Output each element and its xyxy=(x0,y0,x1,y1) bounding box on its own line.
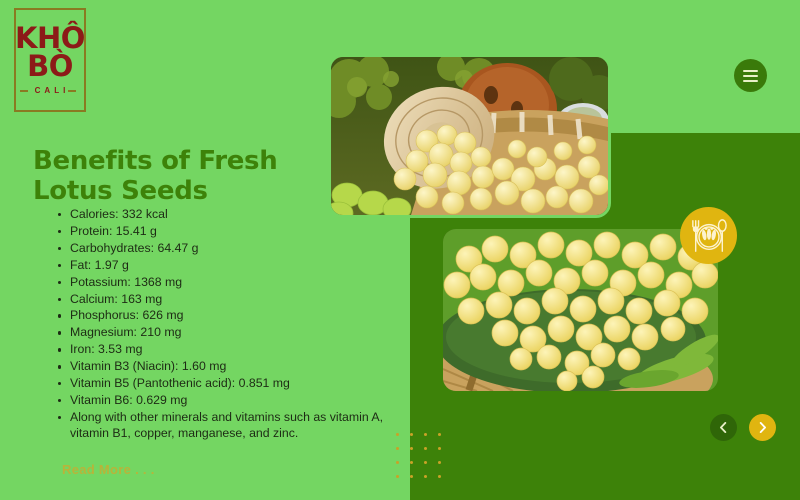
decor-dot xyxy=(396,461,399,464)
decor-dot xyxy=(396,447,399,450)
carousel-prev-button[interactable] xyxy=(710,414,737,441)
nutrition-facts-list: Calories: 332 kcal Protein: 15.41 g Carb… xyxy=(52,206,390,442)
list-item: Vitamin B3 (Niacin): 1.60 mg xyxy=(70,358,390,374)
decor-dot xyxy=(410,475,413,478)
logo-line-1: KHÔ xyxy=(15,25,85,52)
lotus-seed-leaf-photo xyxy=(441,227,720,393)
decor-dot xyxy=(424,447,427,450)
lotus-seed-basket-photo xyxy=(328,54,611,218)
decor-dot xyxy=(424,475,427,478)
hamburger-line-icon xyxy=(743,75,758,77)
dot-grid-decoration xyxy=(391,428,447,484)
fork-plate-spoon-icon xyxy=(690,217,728,255)
list-item: Vitamin B5 (Pantothenic acid): 0.851 mg xyxy=(70,375,390,391)
hamburger-line-icon xyxy=(743,80,758,82)
carousel-controls xyxy=(710,414,776,441)
logo-subtitle: CALI xyxy=(31,86,70,95)
lotus-seed-leaf-illustration xyxy=(443,229,718,391)
list-item: Carbohydrates: 64.47 g xyxy=(70,240,390,256)
list-item: Vitamin B6: 0.629 mg xyxy=(70,392,390,408)
decor-dot xyxy=(396,433,399,436)
logo-line-2: BÒ xyxy=(27,53,73,80)
decor-dot xyxy=(438,461,441,464)
food-badge xyxy=(680,207,737,264)
list-item: Along with other minerals and vitamins s… xyxy=(70,409,390,442)
read-more-link[interactable]: Read More . . . xyxy=(62,462,155,477)
decor-dot xyxy=(438,433,441,436)
list-item: Potassium: 1368 mg xyxy=(70,274,390,290)
hamburger-menu-button[interactable] xyxy=(734,59,767,92)
decor-dot xyxy=(438,475,441,478)
page-title: Benefits of Fresh Lotus Seeds xyxy=(33,147,333,207)
list-item: Phosphorus: 626 mg xyxy=(70,307,390,323)
decor-dot xyxy=(438,447,441,450)
brand-logo[interactable]: KHÔ BÒ CALI xyxy=(14,8,86,112)
carousel-next-button[interactable] xyxy=(749,414,776,441)
lotus-seed-basket-illustration xyxy=(331,57,608,215)
chevron-right-icon xyxy=(757,422,768,433)
decor-dot xyxy=(410,433,413,436)
decor-dot xyxy=(424,461,427,464)
decor-dot xyxy=(410,461,413,464)
list-item: Iron: 3.53 mg xyxy=(70,341,390,357)
decor-dot xyxy=(410,447,413,450)
slide-root: KHÔ BÒ CALI Benefits of Fresh Lotus Seed… xyxy=(0,0,800,500)
decor-dot xyxy=(396,475,399,478)
list-item: Calcium: 163 mg xyxy=(70,291,390,307)
hamburger-line-icon xyxy=(743,70,758,72)
chevron-left-icon xyxy=(718,422,729,433)
list-item: Protein: 15.41 g xyxy=(70,223,390,239)
decor-dot xyxy=(424,433,427,436)
list-item: Fat: 1.97 g xyxy=(70,257,390,273)
list-item: Magnesium: 210 mg xyxy=(70,324,390,340)
